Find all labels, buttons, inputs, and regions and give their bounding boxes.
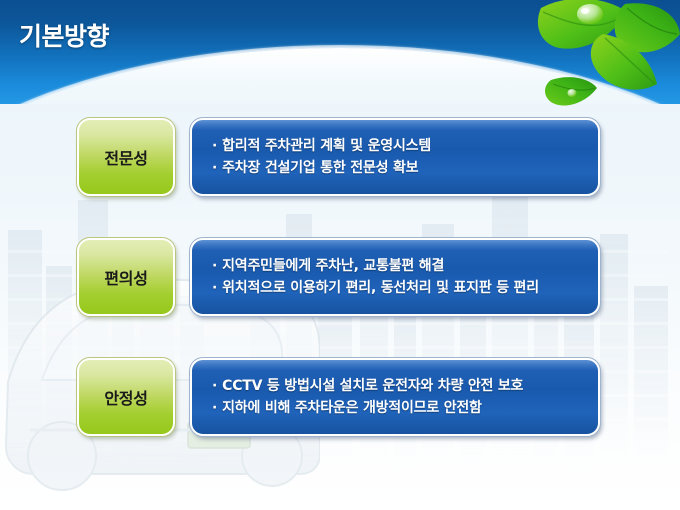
- content-row: 전문성 ·합리적 주차관리 계획 및 운영시스템 ·주차장 건설기업 통한 전문…: [77, 118, 600, 196]
- row-label-box[interactable]: 편의성: [77, 238, 175, 316]
- bullet-text: 위치적으로 이용하기 편리, 동선처리 및 표지판 등 편리: [222, 280, 539, 296]
- row-label-box[interactable]: 전문성: [77, 118, 175, 196]
- bullet-marker-icon: ·: [212, 277, 217, 299]
- bullet-item: ·지하에 비해 주차타운은 개방적이므로 안전함: [212, 397, 598, 419]
- content-row: 안정성 ·CCTV 등 방법시설 설치로 운전자와 차량 안전 보호 ·지하에 …: [77, 358, 600, 436]
- bullet-text: 지역주민들에게 주차난, 교통불편 해결: [222, 258, 444, 274]
- row-content-box[interactable]: ·합리적 주차관리 계획 및 운영시스템 ·주차장 건설기업 통한 전문성 확보: [190, 118, 600, 196]
- bullet-item: ·합리적 주차관리 계획 및 운영시스템: [212, 135, 598, 157]
- row-label-text: 안정성: [104, 385, 147, 409]
- row-content-box[interactable]: ·CCTV 등 방법시설 설치로 운전자와 차량 안전 보호 ·지하에 비해 주…: [190, 358, 600, 436]
- bullet-text: 합리적 주차관리 계획 및 운영시스템: [222, 138, 431, 154]
- row-label-box[interactable]: 안정성: [77, 358, 175, 436]
- bullet-marker-icon: ·: [212, 255, 217, 277]
- leaves-icon: [485, 0, 680, 115]
- row-content-box[interactable]: ·지역주민들에게 주차난, 교통불편 해결 ·위치적으로 이용하기 편리, 동선…: [190, 238, 600, 316]
- bullet-item: ·지역주민들에게 주차난, 교통불편 해결: [212, 255, 598, 277]
- bullet-text: CCTV 등 방법시설 설치로 운전자와 차량 안전 보호: [222, 378, 523, 394]
- bullet-marker-icon: ·: [212, 397, 217, 419]
- page-title: 기본방향: [19, 17, 109, 53]
- slide-canvas: 기본방향: [0, 0, 680, 510]
- bullet-item: ·CCTV 등 방법시설 설치로 운전자와 차량 안전 보호: [212, 375, 598, 397]
- bullet-item: ·주차장 건설기업 통한 전문성 확보: [212, 157, 598, 179]
- bullet-item: ·위치적으로 이용하기 편리, 동선처리 및 표지판 등 편리: [212, 277, 598, 299]
- content-row: 편의성 ·지역주민들에게 주차난, 교통불편 해결 ·위치적으로 이용하기 편리…: [77, 238, 600, 316]
- bullet-marker-icon: ·: [212, 157, 217, 179]
- bullet-text: 지하에 비해 주차타운은 개방적이므로 안전함: [222, 400, 482, 416]
- bullet-text: 주차장 건설기업 통한 전문성 확보: [222, 160, 418, 176]
- row-label-text: 편의성: [104, 265, 147, 289]
- bullet-marker-icon: ·: [212, 375, 217, 397]
- row-label-text: 전문성: [104, 145, 147, 169]
- bullet-marker-icon: ·: [212, 135, 217, 157]
